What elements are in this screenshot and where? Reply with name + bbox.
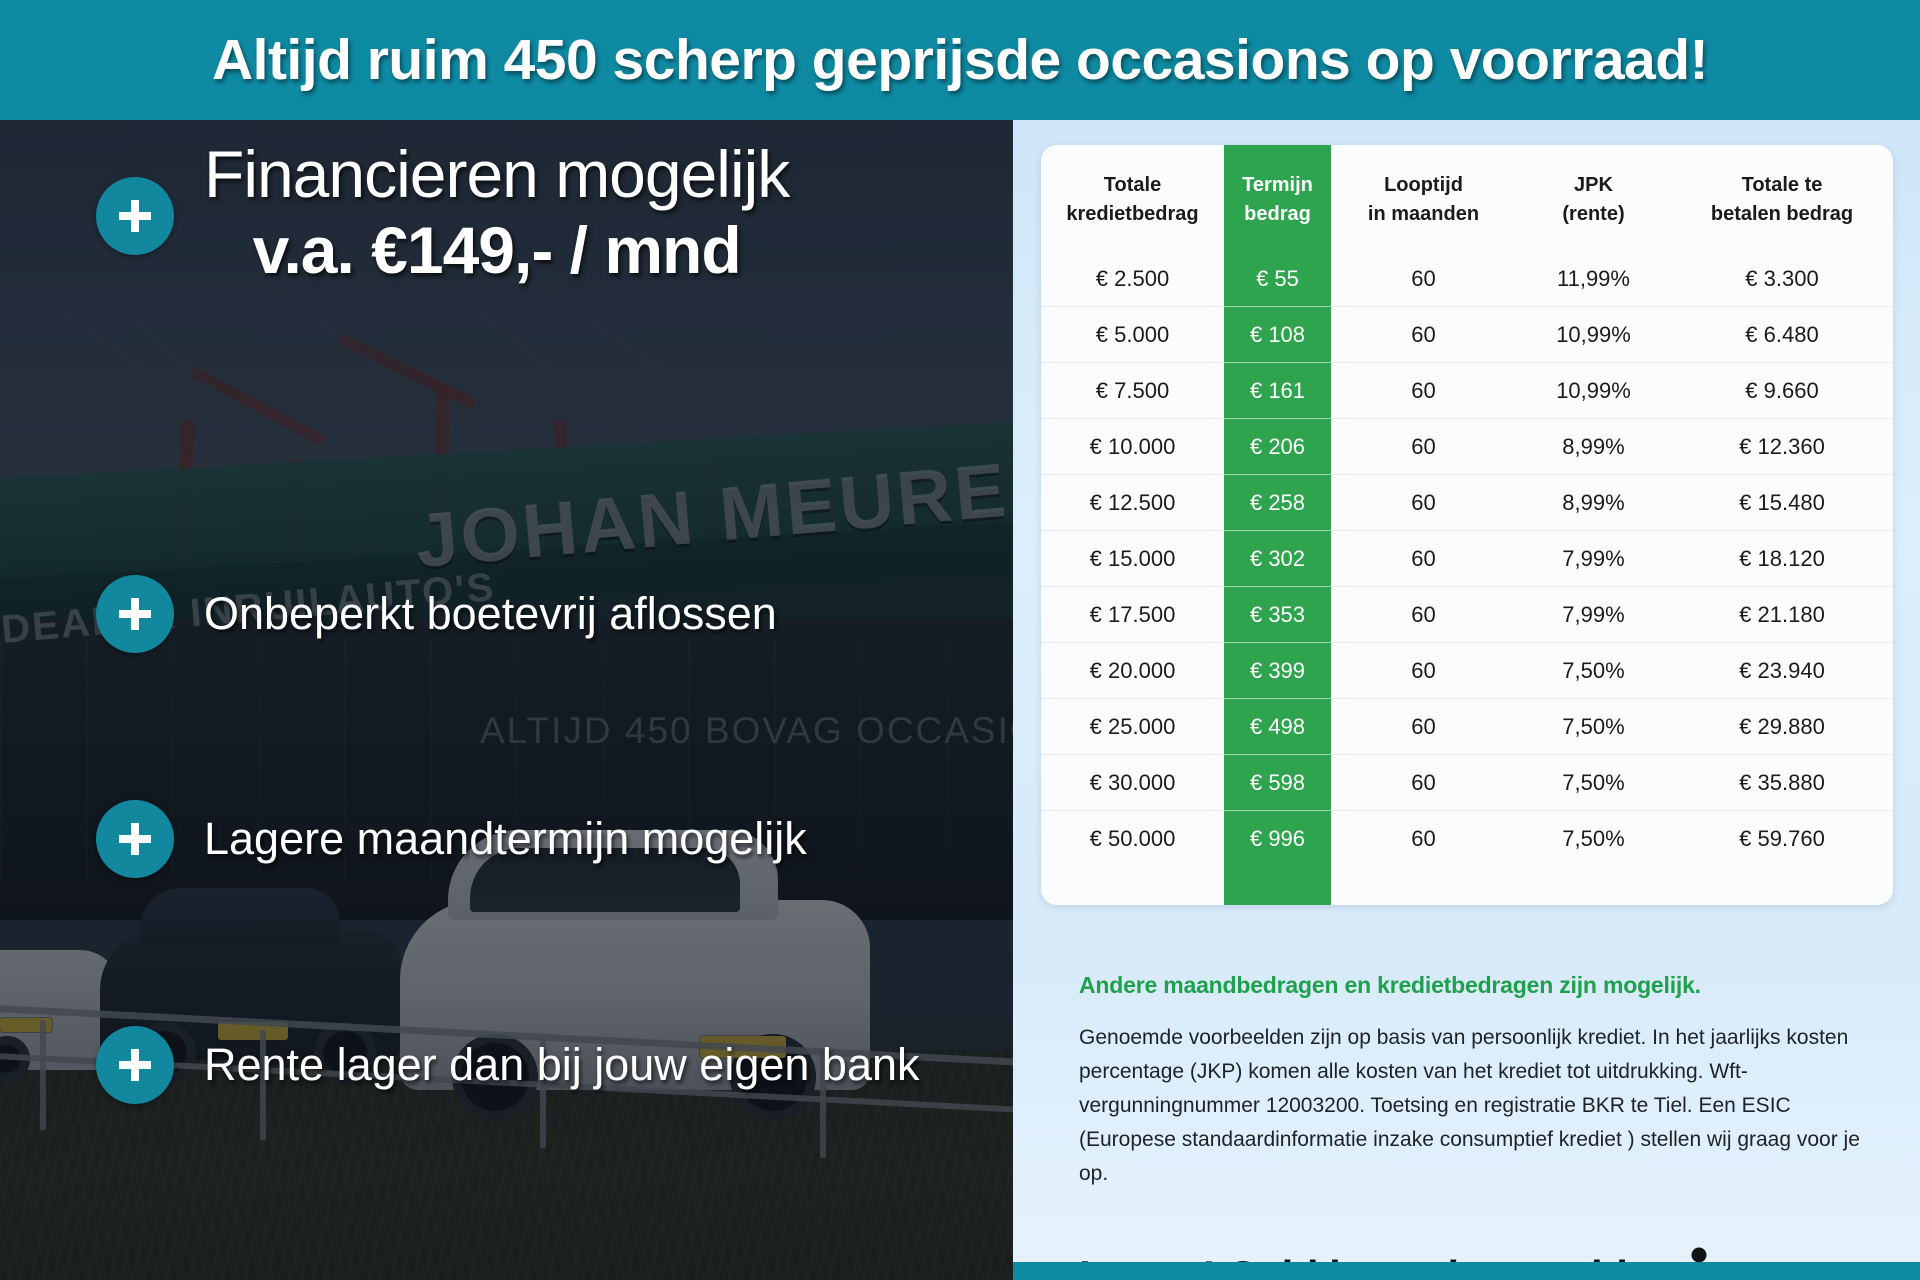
cell-totaal: € 35.880 bbox=[1671, 755, 1893, 811]
cell-termijn: € 108 bbox=[1224, 307, 1331, 363]
cell-looptijd: 60 bbox=[1331, 699, 1516, 755]
cell-krediet: € 20.000 bbox=[1041, 643, 1224, 699]
plus-icon bbox=[96, 575, 174, 653]
cell-krediet: € 50.000 bbox=[1041, 811, 1224, 867]
cell-looptijd: 60 bbox=[1331, 419, 1516, 475]
table-row: € 10.000€ 206608,99%€ 12.360 bbox=[1041, 419, 1893, 475]
cell-looptijd: 60 bbox=[1331, 531, 1516, 587]
banner-headline: Altijd ruim 450 scherp geprijsde occasio… bbox=[212, 27, 1708, 93]
col-header-line2: betalen bedrag bbox=[1711, 203, 1853, 225]
benefit-item-2: Lagere maandtermijn mogelijk bbox=[96, 800, 807, 878]
col-header-line2: in maanden bbox=[1368, 203, 1479, 225]
benefit-label: Lagere maandtermijn mogelijk bbox=[204, 813, 807, 865]
disclaimer-title: Andere maandbedragen en kredietbedragen … bbox=[1079, 972, 1869, 999]
benefit-item-1: Onbeperkt boetevrij aflossen bbox=[96, 575, 777, 653]
cell-termijn: € 258 bbox=[1224, 475, 1331, 531]
col-header-krediet: Totale kredietbedrag bbox=[1041, 145, 1224, 251]
benefits-column: Financieren mogelijk v.a. €149,- / mnd O… bbox=[0, 120, 1020, 1280]
table-row: € 5.000€ 1086010,99%€ 6.480 bbox=[1041, 307, 1893, 363]
cell-jpk: 11,99% bbox=[1516, 251, 1671, 307]
hero-line-2: v.a. €149,- / mnd bbox=[204, 209, 789, 292]
table-row: € 15.000€ 302607,99%€ 18.120 bbox=[1041, 531, 1893, 587]
table-row: € 12.500€ 258608,99%€ 15.480 bbox=[1041, 475, 1893, 531]
table-row: € 25.000€ 498607,50%€ 29.880 bbox=[1041, 699, 1893, 755]
cell-jpk: 7,50% bbox=[1516, 643, 1671, 699]
cell-jpk: 7,99% bbox=[1516, 587, 1671, 643]
cell-looptijd: 60 bbox=[1331, 755, 1516, 811]
cell-krediet: € 17.500 bbox=[1041, 587, 1224, 643]
table-row: € 20.000€ 399607,50%€ 23.940 bbox=[1041, 643, 1893, 699]
cell-looptijd: 60 bbox=[1331, 251, 1516, 307]
col-header-line1: Looptijd bbox=[1384, 174, 1463, 196]
plus-icon bbox=[96, 1026, 174, 1104]
col-header-looptijd: Looptijd in maanden bbox=[1331, 145, 1516, 251]
cell-jpk: 7,50% bbox=[1516, 699, 1671, 755]
cell-krediet: € 30.000 bbox=[1041, 755, 1224, 811]
cell-looptijd: 60 bbox=[1331, 587, 1516, 643]
cell-termijn: € 996 bbox=[1224, 811, 1331, 867]
cell-jpk: 8,99% bbox=[1516, 475, 1671, 531]
financing-panel: Totale kredietbedrag Termijn bedrag Loop… bbox=[1013, 120, 1920, 1280]
cell-termijn: € 598 bbox=[1224, 755, 1331, 811]
cell-termijn: € 161 bbox=[1224, 363, 1331, 419]
cell-krediet: € 7.500 bbox=[1041, 363, 1224, 419]
plus-icon bbox=[96, 177, 174, 255]
financing-table-card: Totale kredietbedrag Termijn bedrag Loop… bbox=[1041, 145, 1893, 905]
col-header-line2: kredietbedrag bbox=[1066, 203, 1198, 225]
cell-totaal: € 59.760 bbox=[1671, 811, 1893, 867]
cell-totaal: € 18.120 bbox=[1671, 531, 1893, 587]
benefit-label: Rente lager dan bij jouw eigen bank bbox=[204, 1039, 920, 1091]
cell-totaal: € 15.480 bbox=[1671, 475, 1893, 531]
cell-jpk: 8,99% bbox=[1516, 419, 1671, 475]
cell-jpk: 7,50% bbox=[1516, 755, 1671, 811]
cell-jpk: 7,50% bbox=[1516, 811, 1671, 867]
table-row: € 30.000€ 598607,50%€ 35.880 bbox=[1041, 755, 1893, 811]
cell-looptijd: 60 bbox=[1331, 643, 1516, 699]
hero-block: Financieren mogelijk v.a. €149,- / mnd bbox=[96, 140, 996, 292]
cell-totaal: € 21.180 bbox=[1671, 587, 1893, 643]
table-row: € 50.000€ 996607,50%€ 59.760 bbox=[1041, 811, 1893, 867]
benefit-item-3: Rente lager dan bij jouw eigen bank bbox=[96, 1026, 920, 1104]
table-row: € 2.500€ 556011,99%€ 3.300 bbox=[1041, 251, 1893, 307]
financing-table-body: € 2.500€ 556011,99%€ 3.300€ 5.000€ 10860… bbox=[1041, 251, 1893, 866]
disclaimer-body: Genoemde voorbeelden zijn op basis van p… bbox=[1079, 1021, 1869, 1191]
cell-totaal: € 3.300 bbox=[1671, 251, 1893, 307]
table-row: € 7.500€ 1616010,99%€ 9.660 bbox=[1041, 363, 1893, 419]
cell-jpk: 10,99% bbox=[1516, 307, 1671, 363]
cell-looptijd: 60 bbox=[1331, 811, 1516, 867]
cell-totaal: € 29.880 bbox=[1671, 699, 1893, 755]
col-header-termijn: Termijn bedrag bbox=[1224, 145, 1331, 251]
col-header-line2: bedrag bbox=[1244, 203, 1311, 225]
cell-termijn: € 206 bbox=[1224, 419, 1331, 475]
cell-totaal: € 12.360 bbox=[1671, 419, 1893, 475]
cell-krediet: € 25.000 bbox=[1041, 699, 1224, 755]
advertisement-page: Altijd ruim 450 scherp geprijsde occasio… bbox=[0, 0, 1920, 1280]
cell-jpk: 7,99% bbox=[1516, 531, 1671, 587]
financing-table: Totale kredietbedrag Termijn bedrag Loop… bbox=[1041, 145, 1893, 866]
cell-jpk: 10,99% bbox=[1516, 363, 1671, 419]
col-header-line1: JPK bbox=[1574, 174, 1613, 196]
cell-totaal: € 23.940 bbox=[1671, 643, 1893, 699]
top-banner: Altijd ruim 450 scherp geprijsde occasio… bbox=[0, 0, 1920, 120]
cell-krediet: € 15.000 bbox=[1041, 531, 1224, 587]
cell-termijn: € 302 bbox=[1224, 531, 1331, 587]
cell-looptijd: 60 bbox=[1331, 363, 1516, 419]
cell-termijn: € 399 bbox=[1224, 643, 1331, 699]
cell-totaal: € 9.660 bbox=[1671, 363, 1893, 419]
disclaimer-block: Andere maandbedragen en kredietbedragen … bbox=[1079, 972, 1869, 1191]
col-header-line1: Totale bbox=[1104, 174, 1161, 196]
table-header-row: Totale kredietbedrag Termijn bedrag Loop… bbox=[1041, 145, 1893, 251]
table-row: € 17.500€ 353607,99%€ 21.180 bbox=[1041, 587, 1893, 643]
bottom-strip bbox=[1013, 1262, 1920, 1280]
cell-termijn: € 498 bbox=[1224, 699, 1331, 755]
col-header-line1: Totale te bbox=[1742, 174, 1823, 196]
col-header-totaal: Totale te betalen bedrag bbox=[1671, 145, 1893, 251]
cell-krediet: € 5.000 bbox=[1041, 307, 1224, 363]
col-header-jpk: JPK (rente) bbox=[1516, 145, 1671, 251]
col-header-line2: (rente) bbox=[1562, 203, 1624, 225]
benefit-label: Onbeperkt boetevrij aflossen bbox=[204, 588, 777, 640]
hero-line-1: Financieren mogelijk bbox=[204, 140, 789, 209]
cell-totaal: € 6.480 bbox=[1671, 307, 1893, 363]
cell-krediet: € 2.500 bbox=[1041, 251, 1224, 307]
plus-icon bbox=[96, 800, 174, 878]
cell-looptijd: 60 bbox=[1331, 307, 1516, 363]
cell-termijn: € 353 bbox=[1224, 587, 1331, 643]
cell-looptijd: 60 bbox=[1331, 475, 1516, 531]
col-header-line1: Termijn bbox=[1242, 174, 1313, 196]
cell-krediet: € 12.500 bbox=[1041, 475, 1224, 531]
cell-termijn: € 55 bbox=[1224, 251, 1331, 307]
cell-krediet: € 10.000 bbox=[1041, 419, 1224, 475]
